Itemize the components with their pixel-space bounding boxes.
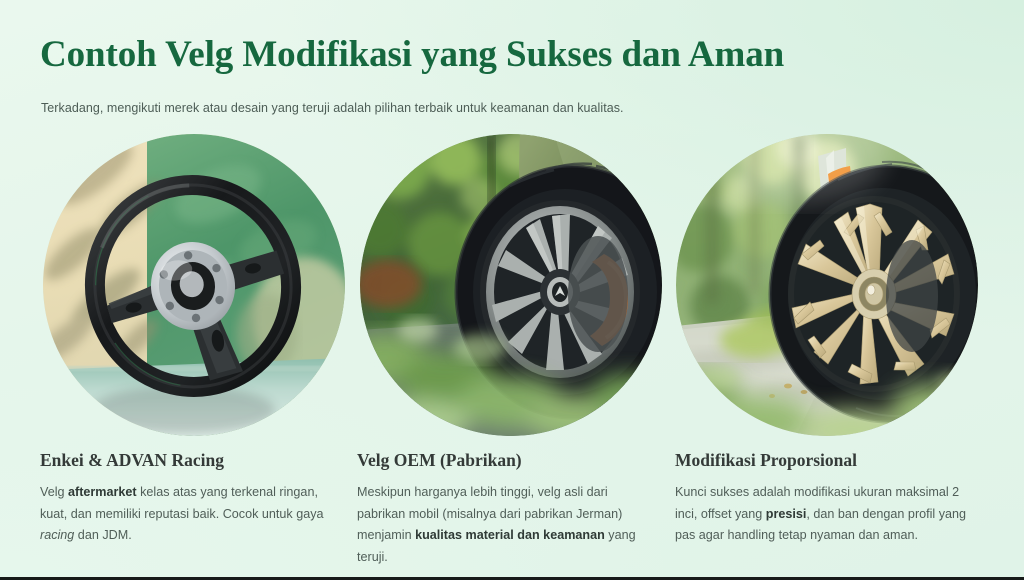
card-1: Enkei & ADVAN Racing Velg aftermarket ke… — [40, 448, 340, 547]
card-title-3: Modifikasi Proporsional — [675, 448, 975, 472]
card-3: Modifikasi Proporsional Kunci sukses ada… — [675, 448, 975, 547]
slide-root: Contoh Velg Modifikasi yang Sukses dan A… — [0, 0, 1024, 580]
card-body-1: Velg aftermarket kelas atas yang terkena… — [40, 482, 340, 547]
page-title: Contoh Velg Modifikasi yang Sukses dan A… — [40, 33, 784, 77]
card-body-3: Kunci sukses adalah modifikasi ukuran ma… — [675, 482, 975, 547]
card-title-1: Enkei & ADVAN Racing — [40, 448, 340, 472]
card-image-3 — [676, 134, 978, 436]
page-subtitle: Terkadang, mengikuti merek atau desain y… — [41, 99, 624, 117]
racing-steering-wheel-photo — [43, 134, 345, 436]
card-image-1 — [43, 134, 345, 436]
image-row — [0, 134, 1024, 438]
card-title-2: Velg OEM (Pabrikan) — [357, 448, 657, 472]
card-2: Velg OEM (Pabrikan) Meskipun harganya le… — [357, 448, 657, 568]
proportional-modified-wheel-photo — [676, 134, 978, 436]
oem-alloy-wheel-photo — [360, 134, 662, 436]
card-body-2: Meskipun harganya lebih tinggi, velg asl… — [357, 482, 657, 568]
card-image-2 — [360, 134, 662, 436]
